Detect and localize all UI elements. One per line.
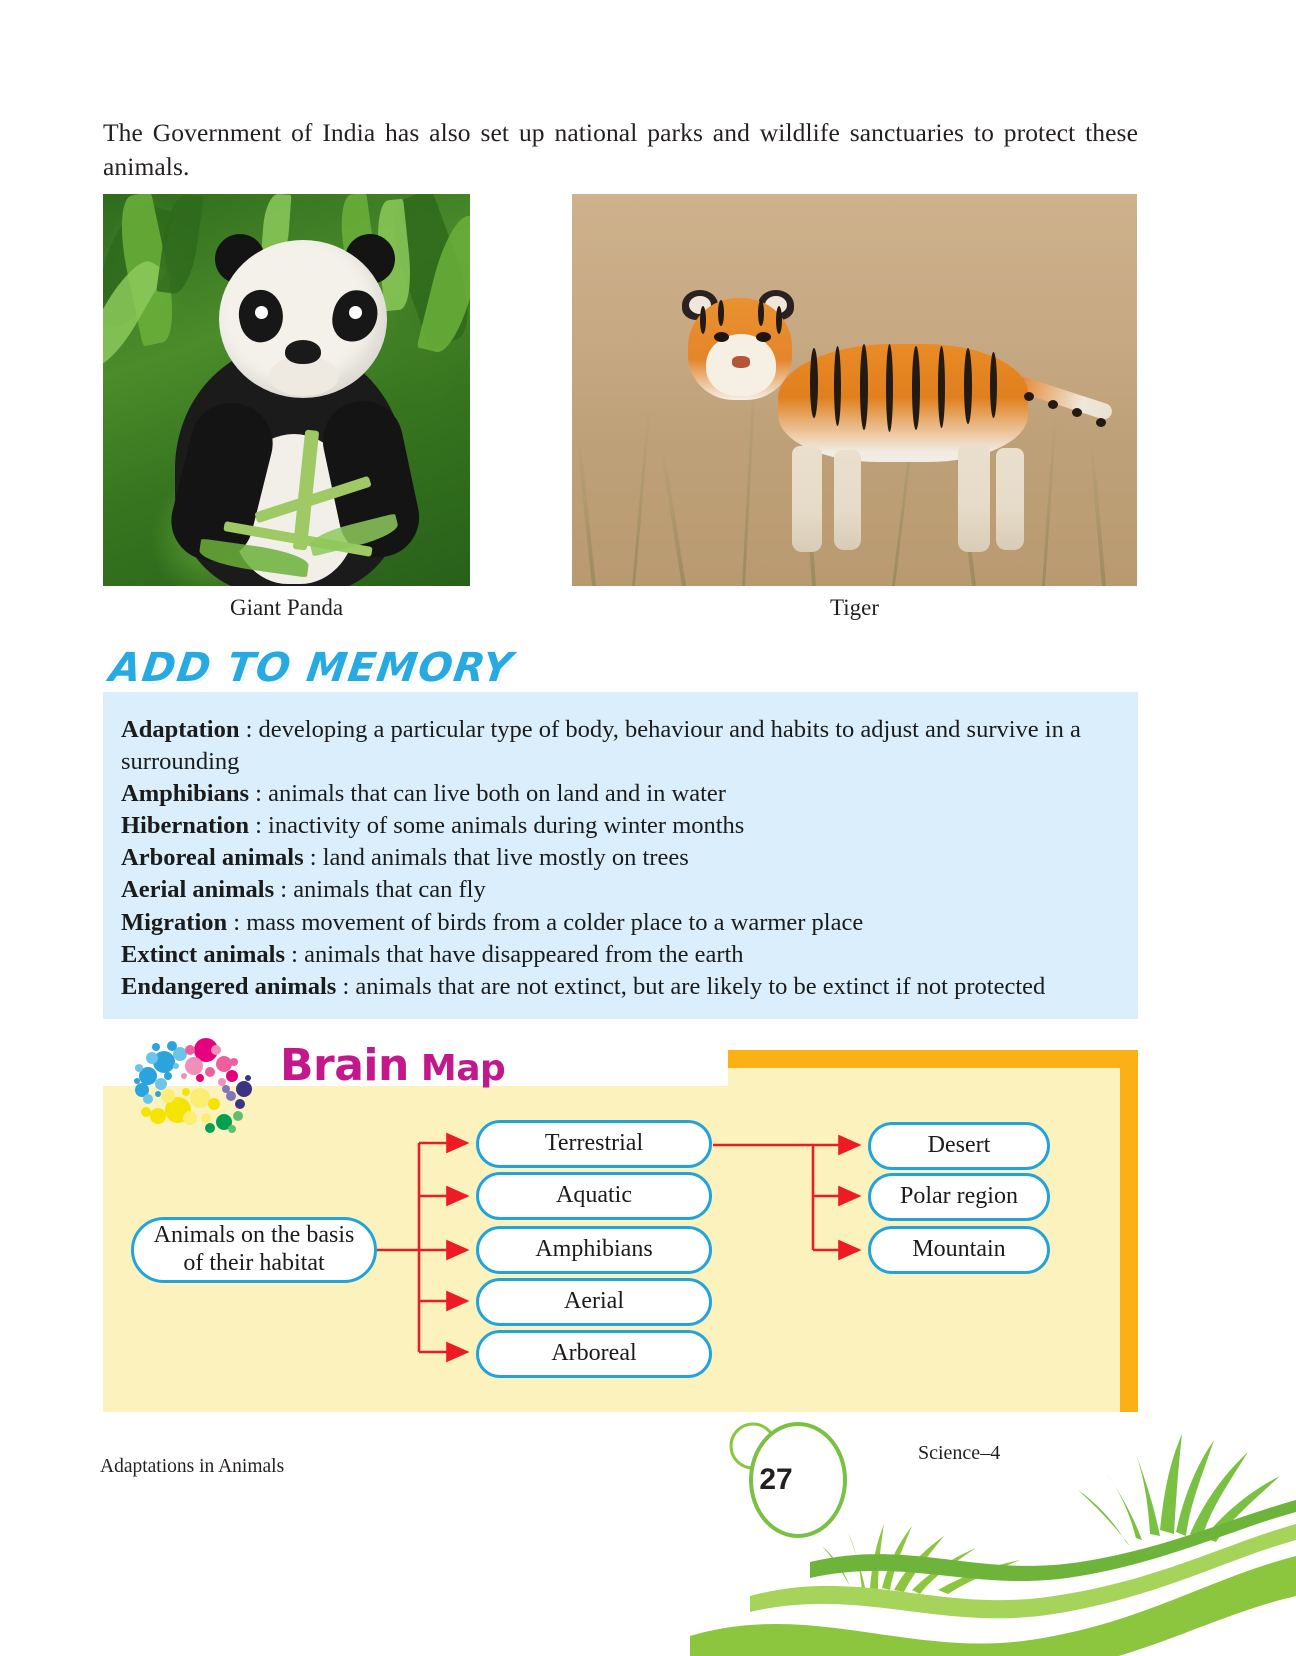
node-aerial[interactable]: Aerial bbox=[476, 1278, 712, 1326]
panda-nose bbox=[285, 340, 321, 364]
tiger-leg-front-left bbox=[792, 446, 822, 552]
definition-term: Extinct animals bbox=[121, 941, 285, 968]
node-amphibians-label: Amphibians bbox=[535, 1236, 652, 1264]
tiger-eye-left bbox=[714, 332, 729, 342]
definition-text: mass movement of birds from a colder pla… bbox=[246, 909, 863, 936]
definition-separator: : bbox=[274, 876, 293, 903]
node-amphibians[interactable]: Amphibians bbox=[476, 1226, 712, 1274]
definition-item: Migration : mass movement of birds from … bbox=[121, 907, 1120, 939]
definition-term: Adaptation bbox=[121, 716, 239, 743]
definition-text: developing a particular type of body, be… bbox=[121, 716, 1081, 775]
definition-term: Arboreal animals bbox=[121, 844, 304, 871]
footer-subject-name: Science–4 bbox=[918, 1442, 1000, 1465]
definition-item: Arboreal animals : land animals that liv… bbox=[121, 842, 1120, 874]
brain-map-nodes: Animals on the basis of their habitat Te… bbox=[103, 1050, 1138, 1412]
definition-text: animals that have disappeared from the e… bbox=[304, 941, 743, 968]
definition-item: Hibernation : inactivity of some animals… bbox=[121, 810, 1120, 842]
node-root-label: Animals on the basis of their habitat bbox=[154, 1222, 355, 1277]
node-aerial-label: Aerial bbox=[564, 1288, 624, 1316]
page-number: 27 bbox=[740, 1437, 812, 1523]
tiger-leg-hind-right bbox=[996, 448, 1024, 550]
definition-item: Aerial animals : animals that can fly bbox=[121, 874, 1120, 906]
definition-text: land animals that live mostly on trees bbox=[323, 844, 689, 871]
definition-term: Migration bbox=[121, 909, 227, 936]
footer-chapter-name: Adaptations in Animals bbox=[100, 1456, 284, 1478]
definition-item: Extinct animals : animals that have disa… bbox=[121, 939, 1120, 971]
definition-item: Endangered animals : animals that are no… bbox=[121, 971, 1120, 1003]
definition-term: Aerial animals bbox=[121, 876, 274, 903]
definition-term: Endangered animals bbox=[121, 973, 336, 1000]
node-aquatic-label: Aquatic bbox=[556, 1182, 632, 1210]
tiger-leg-hind-left bbox=[958, 444, 990, 552]
definition-text: animals that can live both on land and i… bbox=[268, 780, 726, 807]
figure-tiger: Tiger bbox=[572, 194, 1137, 621]
add-to-memory-heading: ADD TO MEMORY bbox=[107, 645, 517, 691]
node-arboreal-label: Arboreal bbox=[551, 1340, 636, 1368]
definition-text: animals that are not extinct, but are li… bbox=[355, 973, 1045, 1000]
panda-eye-left bbox=[255, 306, 268, 319]
node-polar-region-label: Polar region bbox=[900, 1183, 1018, 1211]
figure-caption-giant-panda: Giant Panda bbox=[103, 595, 470, 621]
node-arboreal[interactable]: Arboreal bbox=[476, 1330, 712, 1378]
definition-separator: : bbox=[336, 973, 355, 1000]
figure-giant-panda: Giant Panda bbox=[103, 194, 470, 621]
intro-paragraph: The Government of India has also set up … bbox=[103, 116, 1138, 183]
node-aquatic[interactable]: Aquatic bbox=[476, 1172, 712, 1220]
grass-tuft-right bbox=[1078, 1434, 1280, 1546]
figure-caption-tiger: Tiger bbox=[572, 595, 1137, 621]
definition-term: Hibernation bbox=[121, 812, 249, 839]
tiger-photo bbox=[572, 194, 1137, 586]
tiger-leg-front-right bbox=[834, 450, 861, 550]
node-mountain-label: Mountain bbox=[912, 1236, 1005, 1264]
node-root[interactable]: Animals on the basis of their habitat bbox=[131, 1217, 377, 1283]
node-mountain[interactable]: Mountain bbox=[868, 1226, 1050, 1274]
definition-separator: : bbox=[239, 716, 258, 743]
definition-item: Amphibians : animals that can live both … bbox=[121, 778, 1120, 810]
definition-separator: : bbox=[249, 780, 268, 807]
definition-item: Adaptation : developing a particular typ… bbox=[121, 714, 1120, 778]
node-terrestrial-label: Terrestrial bbox=[545, 1130, 643, 1158]
definition-term: Amphibians bbox=[121, 780, 249, 807]
node-polar-region[interactable]: Polar region bbox=[868, 1173, 1050, 1221]
giant-panda-photo bbox=[103, 194, 470, 586]
node-desert-label: Desert bbox=[928, 1132, 991, 1160]
panda-eye-right bbox=[349, 306, 362, 319]
node-desert[interactable]: Desert bbox=[868, 1122, 1050, 1170]
definition-text: inactivity of some animals during winter… bbox=[268, 812, 744, 839]
definition-text: animals that can fly bbox=[293, 876, 486, 903]
definition-separator: : bbox=[304, 844, 323, 871]
definition-separator: : bbox=[249, 812, 268, 839]
add-to-memory-definitions-box: Adaptation : developing a particular typ… bbox=[103, 692, 1138, 1019]
tiger-eye-right bbox=[756, 332, 771, 342]
definition-separator: : bbox=[227, 909, 246, 936]
definition-separator: : bbox=[285, 941, 304, 968]
tiger-nose bbox=[732, 356, 750, 368]
node-terrestrial[interactable]: Terrestrial bbox=[476, 1120, 712, 1168]
